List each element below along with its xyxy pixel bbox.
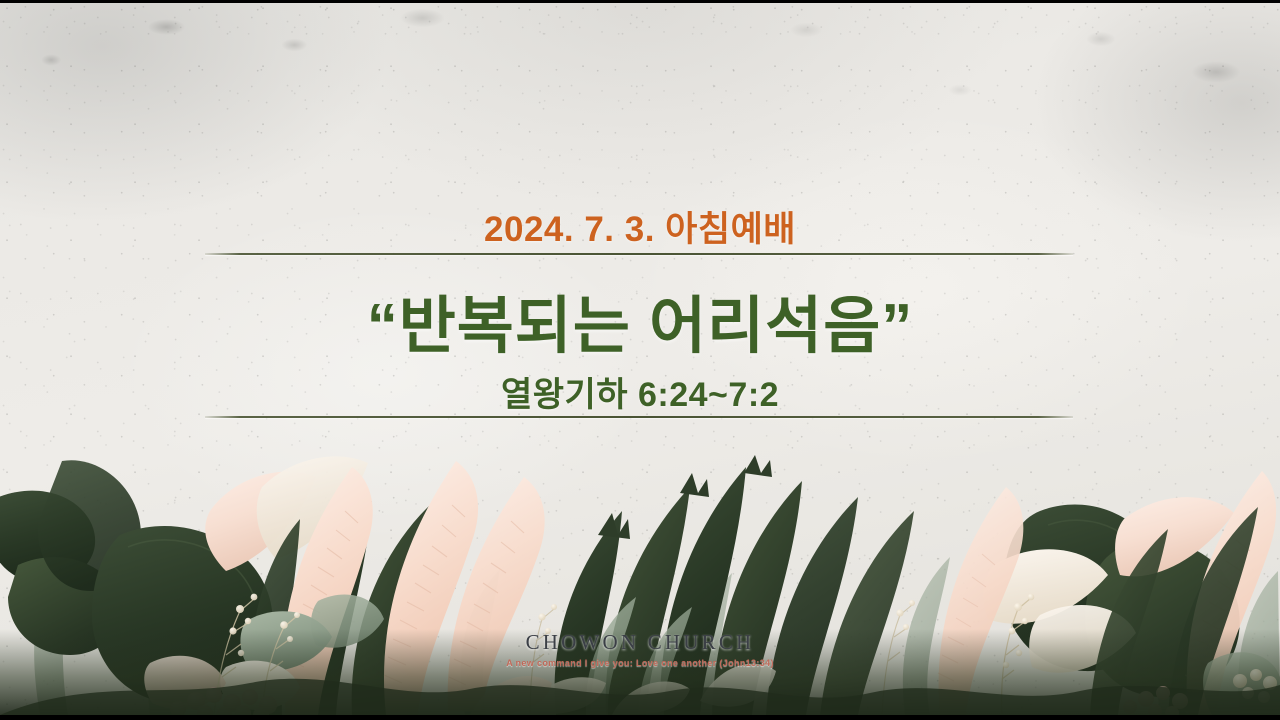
- concrete-wall-background: [0, 3, 1280, 715]
- worship-slide: 2024. 7. 3. 아침예배 “반복되는 어리석음” 열왕기하 6:24~7…: [0, 0, 1280, 720]
- letterbox-bar-top: [0, 0, 1280, 3]
- letterbox-bar-bottom: [0, 715, 1280, 720]
